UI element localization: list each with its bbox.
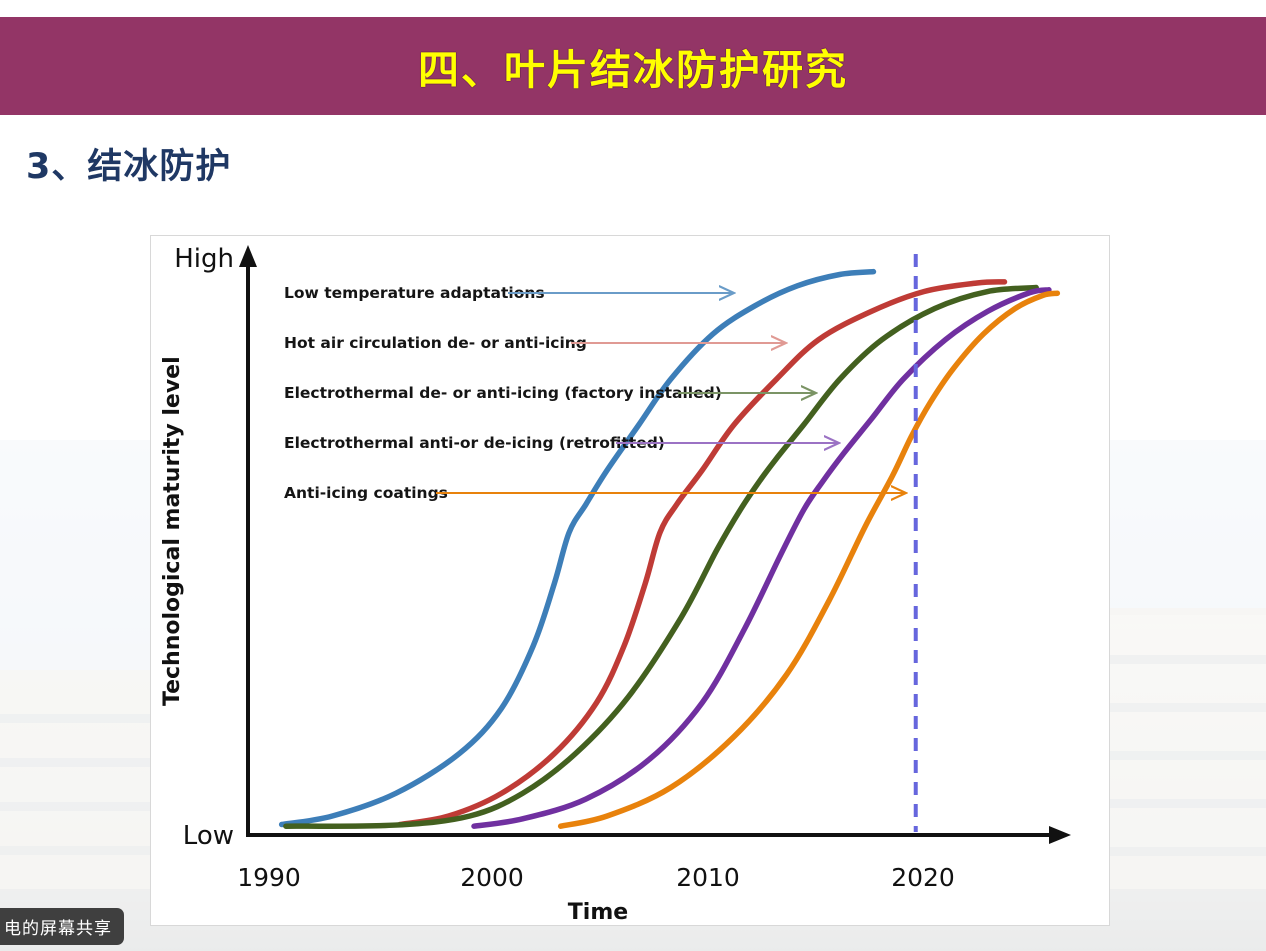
legend-label-3: Electrothermal anti-or de-icing (retrofi… [284, 434, 665, 452]
x-tick-label-2: 2010 [676, 863, 740, 892]
page-title: 四、叶片结冰防护研究 [418, 36, 848, 96]
legend-label-4: Anti-icing coatings [284, 484, 448, 502]
x-tick-label-0: 1990 [237, 863, 301, 892]
slide-title-bar: 四、叶片结冰防护研究 [0, 17, 1266, 115]
y-axis-low-label: Low [183, 821, 234, 851]
presentation-slide: 四、叶片结冰防护研究 3、结冰防护 High Low Technological… [0, 0, 1266, 951]
section-heading: 3、结冰防护 [26, 138, 231, 189]
technology-maturity-chart: High Low Technological maturity level 19… [150, 235, 1110, 926]
x-tick-label-1: 2000 [460, 863, 524, 892]
screen-share-badge: 电的屏幕共享 [0, 908, 124, 945]
y-axis-high-label: High [174, 244, 234, 274]
chart-svg: High Low Technological maturity level 19… [151, 236, 1109, 925]
x-axis-title: Time [568, 900, 628, 925]
legend-label-0: Low temperature adaptations [284, 284, 545, 302]
legend-label-1: Hot air circulation de- or anti-icing [284, 334, 587, 352]
y-axis-title: Technological maturity level [160, 356, 185, 706]
x-tick-label-3: 2020 [891, 863, 955, 892]
legend-label-2: Electrothermal de- or anti-icing (factor… [284, 384, 722, 402]
